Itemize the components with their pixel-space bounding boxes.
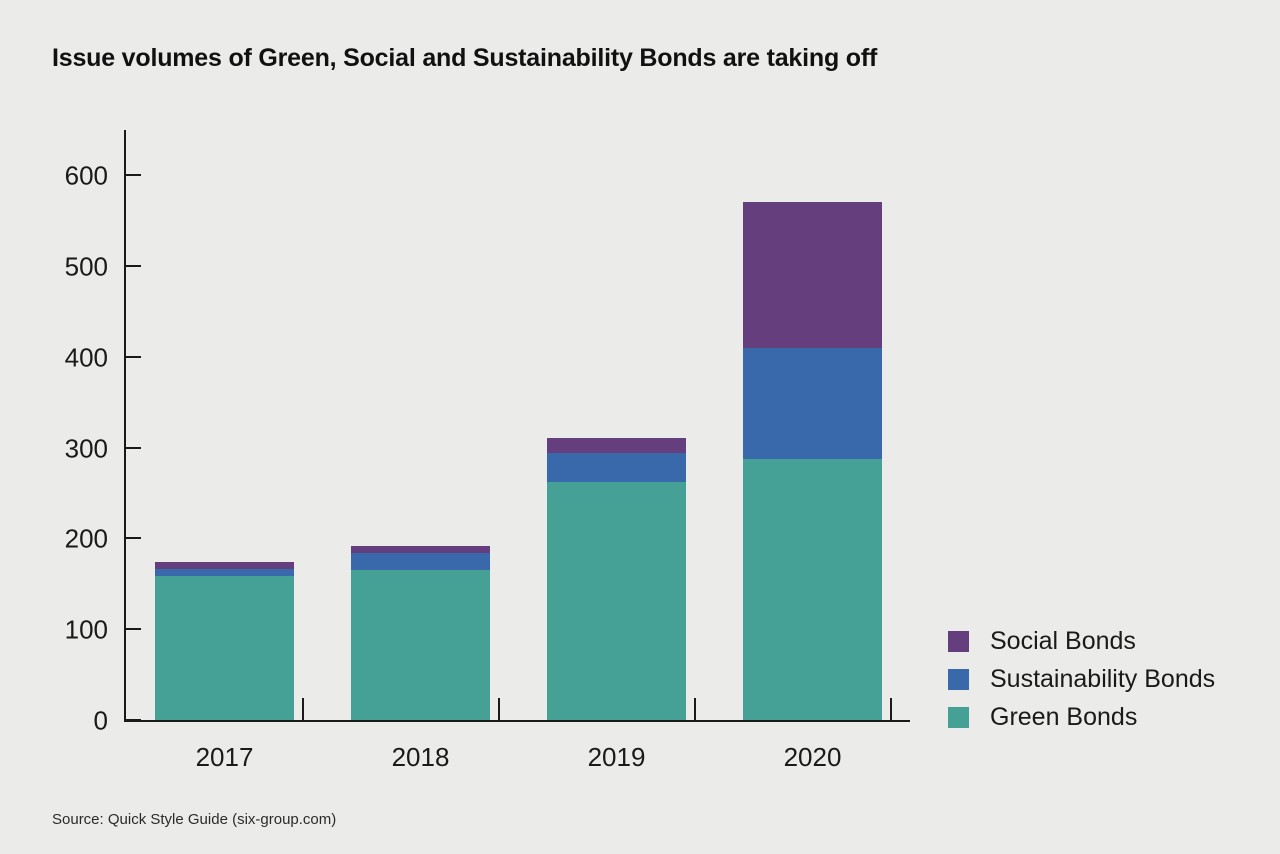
bar-segment-sustainability-bonds-2018[interactable] <box>351 553 490 570</box>
x-axis-label-2020: 2020 <box>784 742 842 773</box>
x-axis-label-2017: 2017 <box>196 742 254 773</box>
y-axis-line <box>124 130 126 722</box>
y-tick-mark <box>126 447 141 449</box>
y-tick-mark <box>126 537 141 539</box>
y-tick-mark <box>126 265 141 267</box>
legend-item-sustainability-bonds[interactable]: Sustainability Bonds <box>948 660 1215 698</box>
bar-segment-green-bonds-2020[interactable] <box>743 459 882 720</box>
y-tick-label: 0 <box>94 706 108 737</box>
bar-segment-sustainability-bonds-2019[interactable] <box>547 453 686 482</box>
chart-legend: Social BondsSustainability BondsGreen Bo… <box>948 622 1215 736</box>
y-tick-mark <box>126 628 141 630</box>
y-tick-label: 300 <box>65 433 108 464</box>
y-tick-label: 200 <box>65 524 108 555</box>
x-tick-mark <box>302 698 304 720</box>
bar-segment-green-bonds-2017[interactable] <box>155 576 294 720</box>
y-tick-mark <box>126 719 141 721</box>
bar-segment-social-bonds-2017[interactable] <box>155 562 294 569</box>
bar-2018[interactable] <box>351 546 490 720</box>
y-tick-label: 600 <box>65 161 108 192</box>
x-tick-mark <box>498 698 500 720</box>
x-axis-label-2019: 2019 <box>588 742 646 773</box>
y-tick-label: 400 <box>65 342 108 373</box>
legend-swatch-icon <box>948 631 969 652</box>
bar-segment-green-bonds-2018[interactable] <box>351 570 490 720</box>
source-note: Source: Quick Style Guide (six-group.com… <box>52 811 336 828</box>
bar-segment-social-bonds-2020[interactable] <box>743 202 882 347</box>
bar-segment-green-bonds-2019[interactable] <box>547 482 686 720</box>
chart-title: Issue volumes of Green, Social and Susta… <box>52 44 877 73</box>
y-tick-label: 500 <box>65 251 108 282</box>
bar-2020[interactable] <box>743 202 882 720</box>
y-tick-label: 100 <box>65 615 108 646</box>
legend-label: Green Bonds <box>990 703 1137 732</box>
x-tick-mark <box>694 698 696 720</box>
bar-segment-sustainability-bonds-2020[interactable] <box>743 348 882 460</box>
y-tick-mark <box>126 356 141 358</box>
bar-2017[interactable] <box>155 562 294 720</box>
legend-swatch-icon <box>948 669 969 690</box>
legend-label: Sustainability Bonds <box>990 665 1215 694</box>
legend-label: Social Bonds <box>990 627 1136 656</box>
legend-item-green-bonds[interactable]: Green Bonds <box>948 698 1215 736</box>
x-axis-label-2018: 2018 <box>392 742 450 773</box>
bar-segment-social-bonds-2018[interactable] <box>351 546 490 553</box>
plot-area: 0100200300400500600 2017201820192020 <box>124 130 910 722</box>
legend-item-social-bonds[interactable]: Social Bonds <box>948 622 1215 660</box>
bar-segment-social-bonds-2019[interactable] <box>547 438 686 453</box>
legend-swatch-icon <box>948 707 969 728</box>
bar-2019[interactable] <box>547 438 686 720</box>
y-tick-mark <box>126 174 141 176</box>
x-axis-line <box>124 720 910 722</box>
x-tick-mark <box>890 698 892 720</box>
bar-segment-sustainability-bonds-2017[interactable] <box>155 569 294 576</box>
